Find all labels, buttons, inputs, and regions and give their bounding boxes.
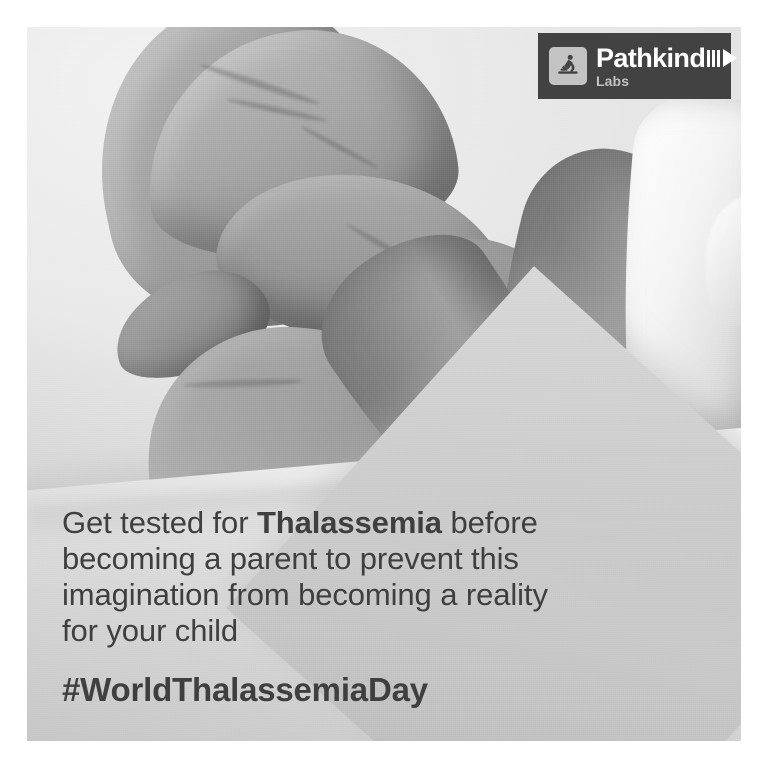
- pathkind-labs-logo[interactable]: Pathkind Labs: [538, 33, 731, 99]
- poster-canvas: Pathkind Labs Get tested for Thalassemia…: [0, 0, 768, 768]
- hashtag: #WorldThalassemiaDay: [62, 671, 662, 709]
- logo-wordmark: Pathkind Labs: [596, 45, 737, 88]
- logo-name-row: Pathkind: [596, 45, 737, 72]
- headline-line4: for your child: [62, 613, 238, 648]
- photograph: Pathkind Labs Get tested for Thalassemia…: [27, 27, 741, 741]
- headline-line1-a: Get tested for: [62, 505, 257, 540]
- play-triangle-icon: [723, 49, 737, 67]
- headline-line3: imagination from becoming a reality: [62, 577, 548, 612]
- headline-line1-c: before: [442, 505, 538, 540]
- message-block: Get tested for Thalassemia beforebecomin…: [62, 505, 662, 709]
- logo-sub: Labs: [596, 74, 737, 88]
- microscope-icon: [549, 47, 587, 85]
- headline-line2: becoming a parent to prevent this: [62, 541, 519, 576]
- headline-keyword: Thalassemia: [257, 505, 442, 540]
- signal-bars-icon: [707, 50, 722, 67]
- headline: Get tested for Thalassemia beforebecomin…: [62, 505, 662, 649]
- logo-name: Pathkind: [596, 45, 705, 72]
